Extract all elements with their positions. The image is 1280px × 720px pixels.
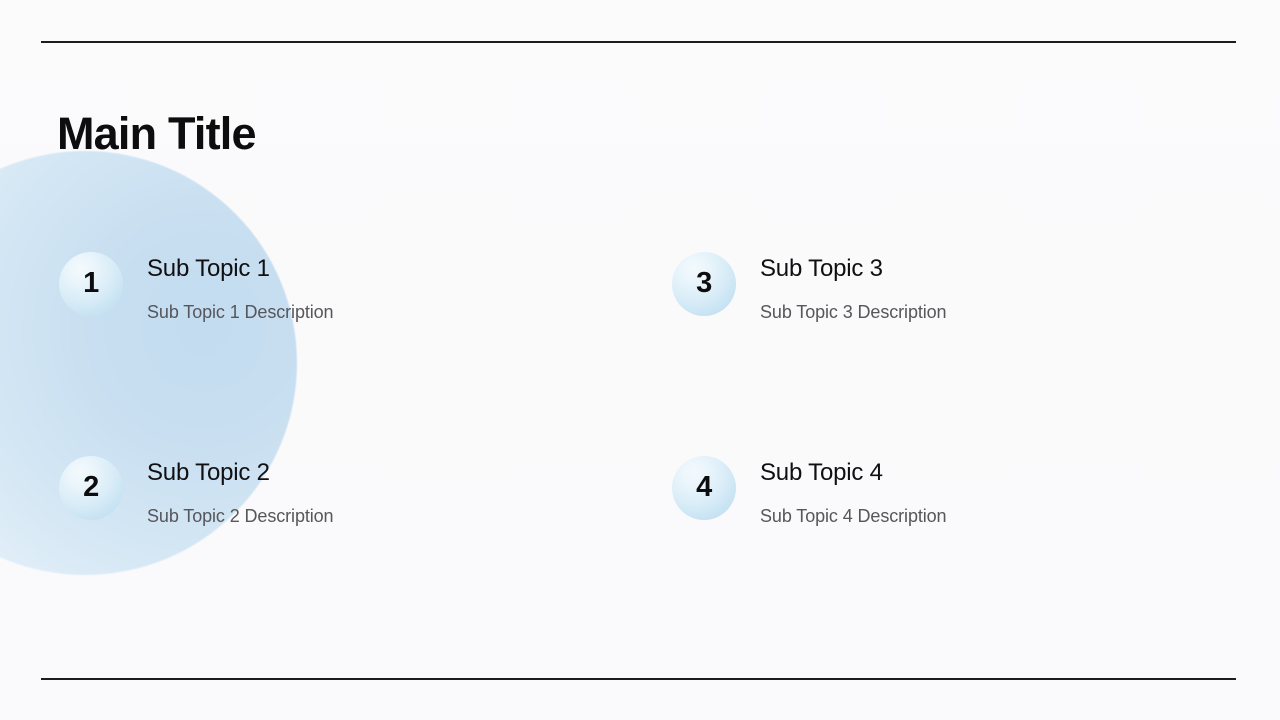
number-badge-3: 3 [672,252,736,316]
number-badge-label: 1 [83,269,99,298]
sub-topic-item-1[interactable]: 1 Sub Topic 1 Sub Topic 1 Description [59,252,333,323]
sub-topic-item-2[interactable]: 2 Sub Topic 2 Sub Topic 2 Description [59,456,333,527]
sub-topic-text-2: Sub Topic 2 Sub Topic 2 Description [147,456,333,527]
sub-topic-description: Sub Topic 1 Description [147,302,333,324]
number-badge-label: 2 [83,473,99,502]
sub-topic-text-3: Sub Topic 3 Sub Topic 3 Description [760,252,946,323]
slide-canvas: Main Title 1 Sub Topic 1 Sub Topic 1 Des… [0,0,1280,720]
number-badge-label: 4 [696,473,712,502]
sub-topic-heading: Sub Topic 2 [147,459,333,487]
sub-topic-description: Sub Topic 2 Description [147,506,333,528]
sub-topic-text-1: Sub Topic 1 Sub Topic 1 Description [147,252,333,323]
number-badge-1: 1 [59,252,123,316]
sub-topic-text-4: Sub Topic 4 Sub Topic 4 Description [760,456,946,527]
sub-topics-grid: 1 Sub Topic 1 Sub Topic 1 Description 2 … [0,0,1280,720]
sub-topic-heading: Sub Topic 3 [760,255,946,283]
sub-topic-description: Sub Topic 4 Description [760,506,946,528]
sub-topic-heading: Sub Topic 1 [147,255,333,283]
sub-topic-item-4[interactable]: 4 Sub Topic 4 Sub Topic 4 Description [672,456,946,527]
number-badge-4: 4 [672,456,736,520]
number-badge-label: 3 [696,269,712,298]
sub-topic-description: Sub Topic 3 Description [760,302,946,324]
sub-topic-heading: Sub Topic 4 [760,459,946,487]
sub-topic-item-3[interactable]: 3 Sub Topic 3 Sub Topic 3 Description [672,252,946,323]
number-badge-2: 2 [59,456,123,520]
